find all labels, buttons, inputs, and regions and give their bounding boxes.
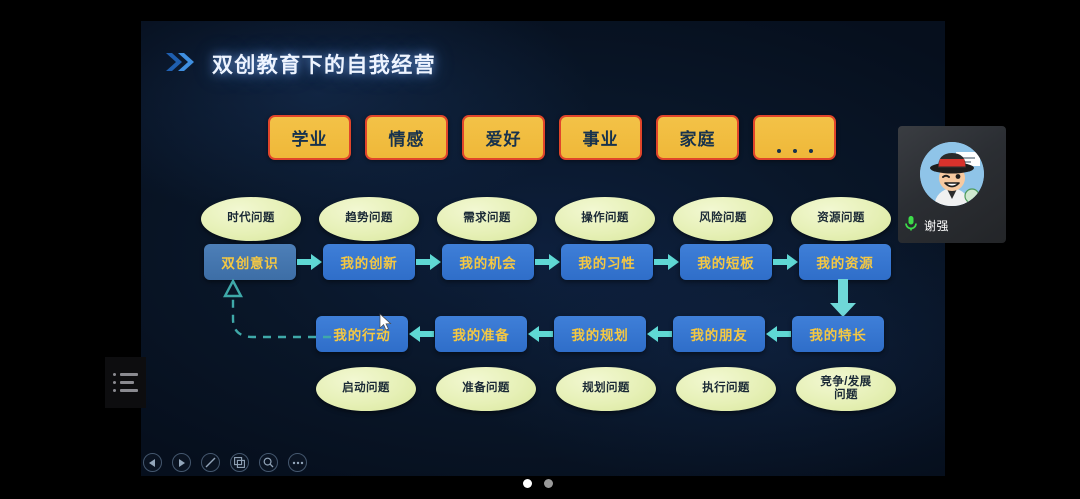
list-menu-icon — [113, 373, 138, 392]
top-question-row: 时代问题 趋势问题 需求问题 操作问题 风险问题 资源问题 — [201, 197, 891, 241]
arrow-left-icon — [646, 316, 673, 352]
process-box[interactable]: 我的准备 — [435, 316, 527, 352]
annotate-pen-button[interactable] — [201, 453, 220, 472]
tag-qinggan[interactable]: 情感 — [365, 115, 448, 160]
tag-shiye[interactable]: 事业 — [559, 115, 642, 160]
double-chevron-icon — [165, 51, 199, 78]
mouse-cursor — [379, 313, 392, 336]
slide-toolbar — [143, 453, 307, 472]
process-box[interactable]: 双创意识 — [204, 244, 296, 280]
process-row-one: 双创意识 我的创新 我的机会 我的习性 我的短板 我的资源 — [204, 244, 891, 280]
process-box[interactable]: 我的朋友 — [673, 316, 765, 352]
process-box[interactable]: 我的创新 — [323, 244, 415, 280]
page-title: 双创教育下的自我经营 — [212, 49, 436, 79]
process-row-two: 我的行动 我的准备 我的规划 我的朋友 我的特长 — [316, 316, 884, 352]
sidebar-menu-panel[interactable] — [105, 357, 146, 408]
previous-slide-button[interactable] — [143, 453, 162, 472]
pages-panel-button[interactable] — [230, 453, 249, 472]
arrow-right-icon — [772, 244, 799, 280]
question-ellipse: 时代问题 — [201, 197, 301, 241]
arrow-right-icon — [296, 244, 323, 280]
page-indicator[interactable] — [523, 479, 553, 488]
page-dot-inactive[interactable] — [544, 479, 553, 488]
ellipsis-dots-icon — [777, 112, 813, 164]
avatar — [920, 142, 984, 206]
arrow-right-icon — [415, 244, 442, 280]
question-ellipse: 风险问题 — [673, 197, 773, 241]
screen-root: 双创教育下的自我经营 学业 情感 爱好 事业 家庭 时代问题 趋势问题 需求问题… — [0, 0, 1080, 499]
tag-ellipsis[interactable] — [753, 115, 836, 160]
page-dot-active[interactable] — [523, 479, 532, 488]
question-ellipse: 竞争/发展 问题 — [796, 367, 896, 411]
arrow-left-icon — [408, 316, 435, 352]
process-box[interactable]: 我的机会 — [442, 244, 534, 280]
arrow-left-icon — [527, 316, 554, 352]
tag-jiating[interactable]: 家庭 — [656, 115, 739, 160]
bottom-question-row: 启动问题 准备问题 规划问题 执行问题 竞争/发展 问题 — [316, 367, 896, 411]
more-options-button[interactable] — [288, 453, 307, 472]
slide-title-row: 双创教育下的自我经营 — [165, 49, 436, 79]
process-box[interactable]: 我的规划 — [554, 316, 646, 352]
presentation-slide[interactable]: 双创教育下的自我经营 学业 情感 爱好 事业 家庭 时代问题 趋势问题 需求问题… — [141, 21, 945, 476]
question-ellipse: 需求问题 — [437, 197, 537, 241]
participant-nameplate: 谢强 — [903, 214, 949, 237]
question-ellipse: 准备问题 — [436, 367, 536, 411]
category-tag-row: 学业 情感 爱好 事业 家庭 — [268, 115, 836, 160]
process-box[interactable]: 我的特长 — [792, 316, 884, 352]
question-ellipse: 执行问题 — [676, 367, 776, 411]
dashed-feedback-arrow-icon — [213, 279, 333, 352]
question-ellipse: 规划问题 — [556, 367, 656, 411]
tag-xueye[interactable]: 学业 — [268, 115, 351, 160]
zoom-button[interactable] — [259, 453, 278, 472]
question-ellipse: 操作问题 — [555, 197, 655, 241]
participant-video-tile[interactable]: 谢强 — [898, 126, 1006, 243]
process-box[interactable]: 我的习性 — [561, 244, 653, 280]
microphone-icon[interactable] — [903, 214, 919, 237]
process-box[interactable]: 我的短板 — [680, 244, 772, 280]
participant-name: 谢强 — [924, 217, 949, 234]
question-ellipse: 趋势问题 — [319, 197, 419, 241]
arrow-left-icon — [765, 316, 792, 352]
arrow-right-icon — [653, 244, 680, 280]
question-ellipse: 启动问题 — [316, 367, 416, 411]
tag-aihao[interactable]: 爱好 — [462, 115, 545, 160]
process-box[interactable]: 我的资源 — [799, 244, 891, 280]
arrow-right-icon — [534, 244, 561, 280]
next-slide-button[interactable] — [172, 453, 191, 472]
question-ellipse: 资源问题 — [791, 197, 891, 241]
